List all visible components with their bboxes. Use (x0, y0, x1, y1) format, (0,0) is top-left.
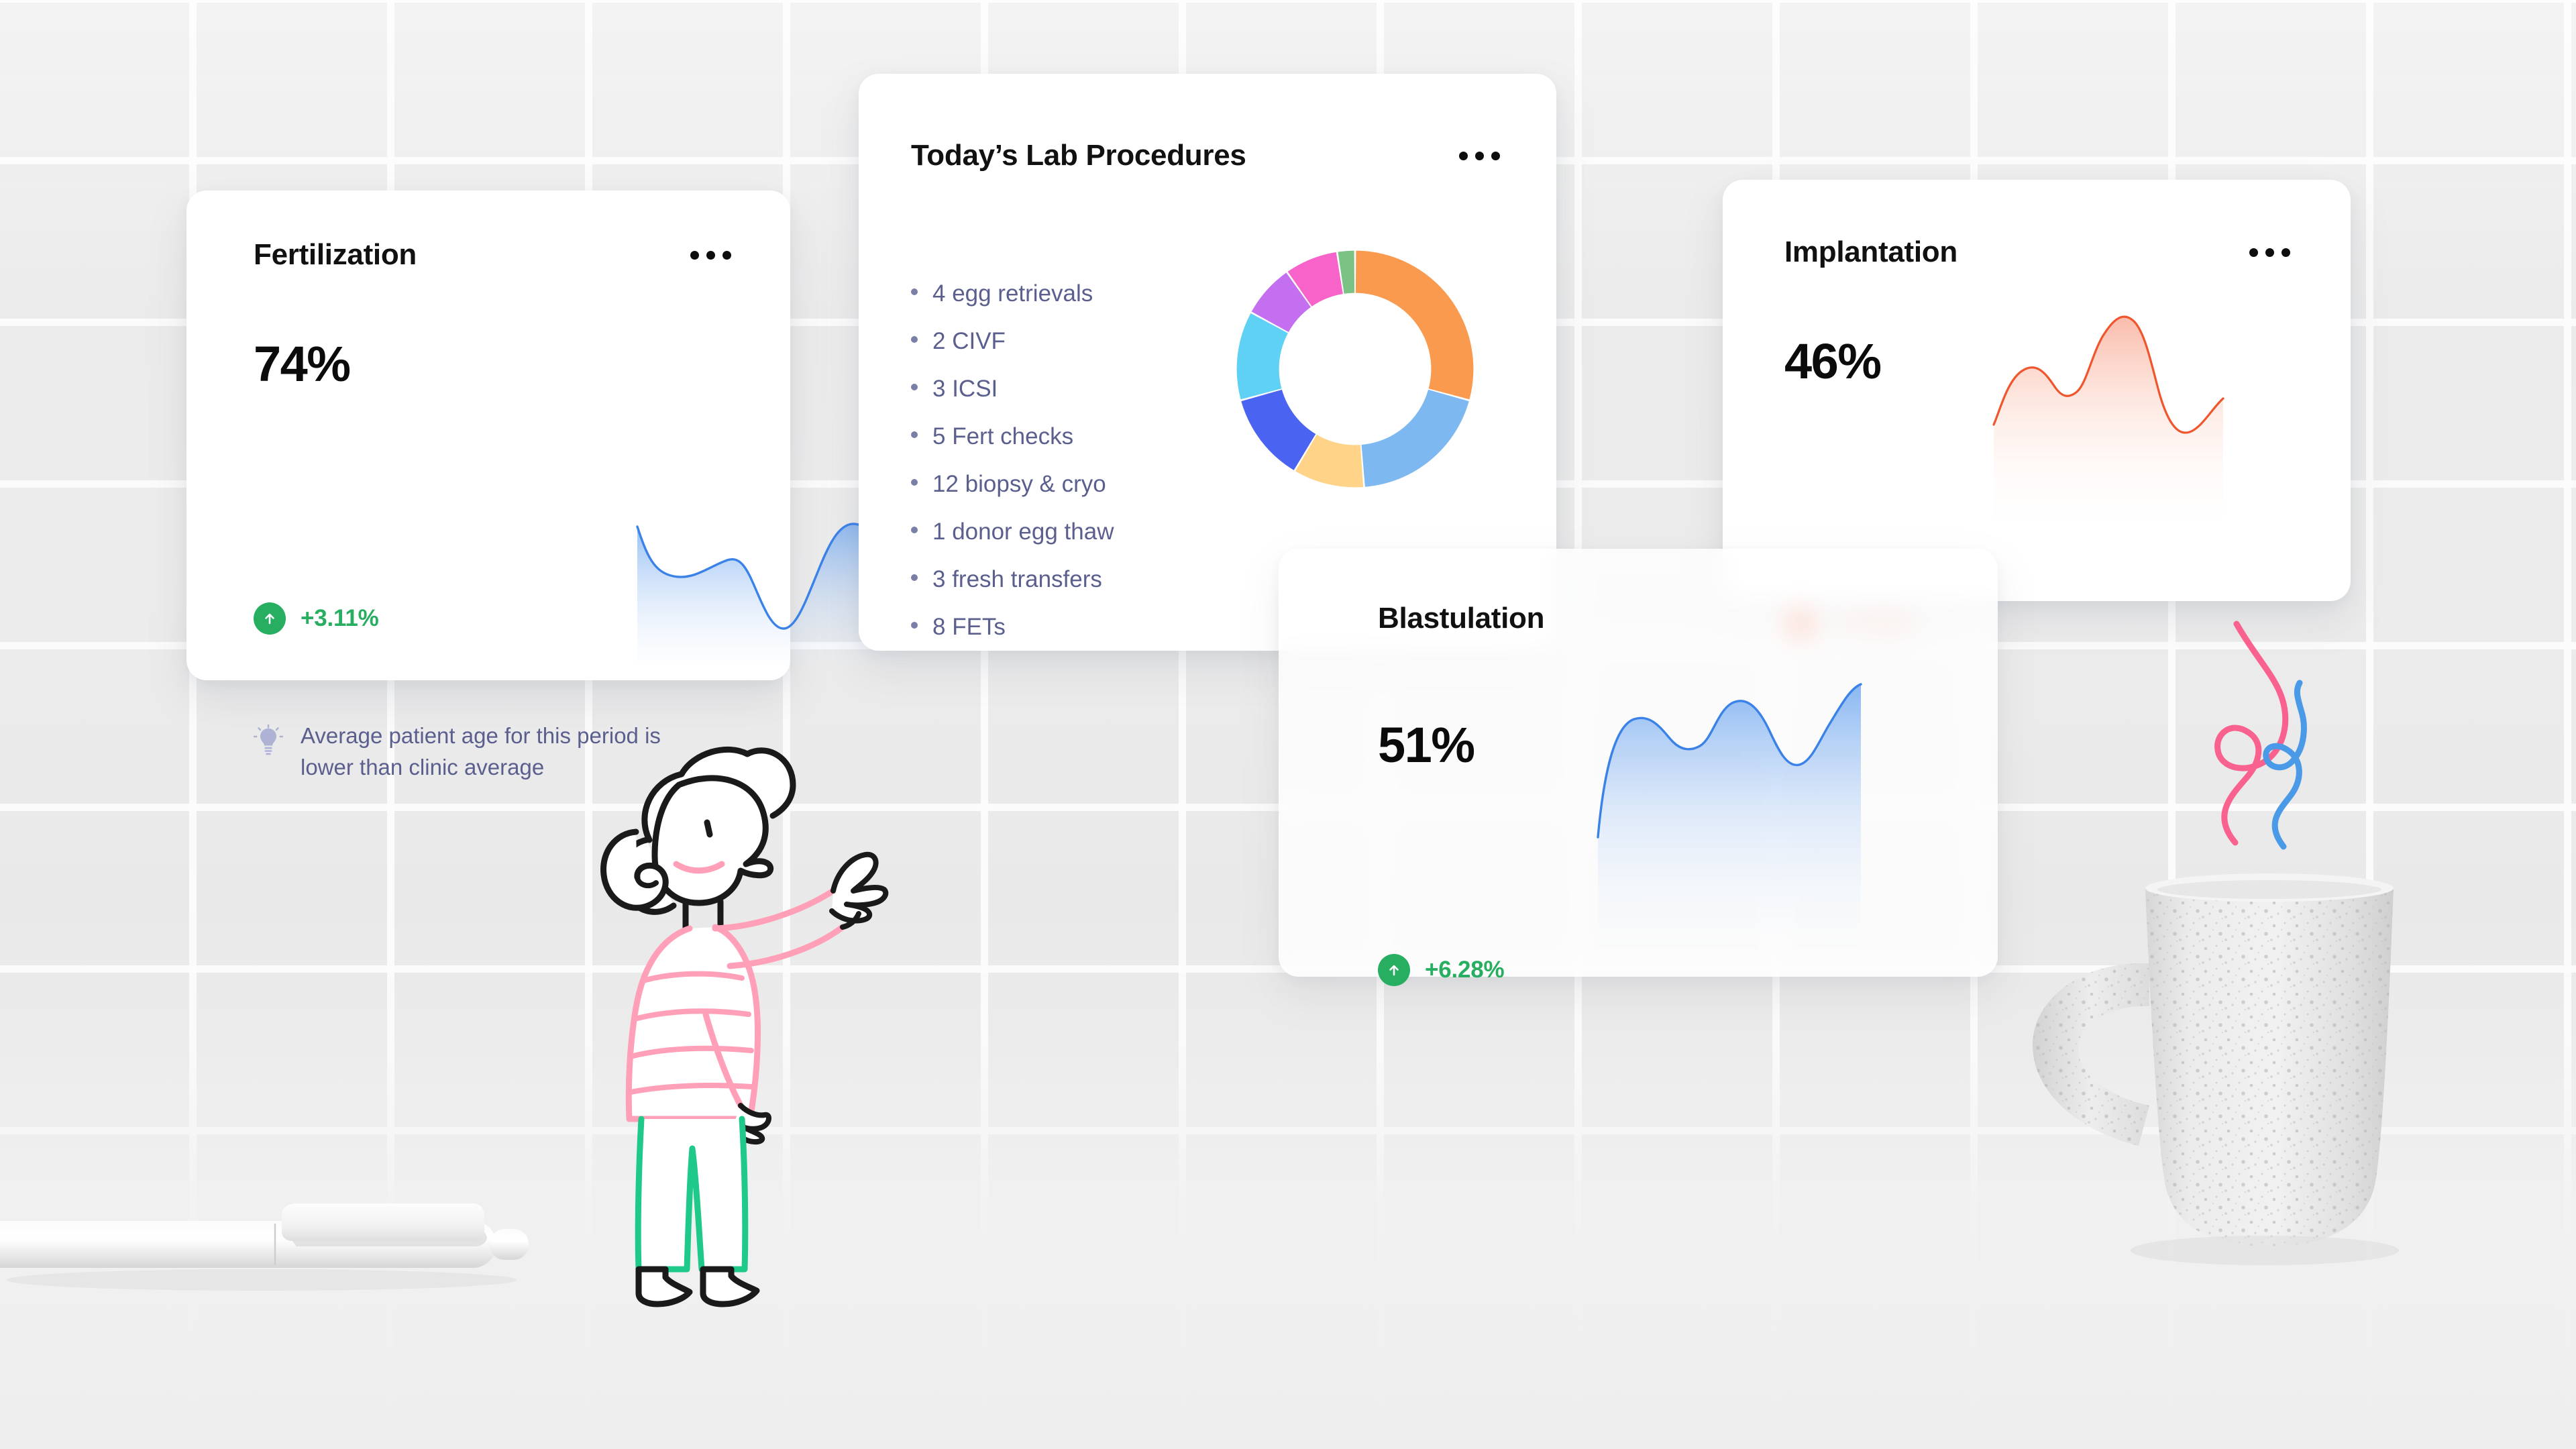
list-item: 1 donor egg thaw (911, 520, 1114, 543)
card-header: Implantation (1784, 237, 2294, 267)
bullet-icon (911, 479, 918, 486)
list-item: 12 biopsy & cryo (911, 472, 1114, 496)
card-title: Fertilization (254, 240, 417, 270)
bullet-icon (911, 288, 918, 295)
list-item: 8 FETs (911, 615, 1114, 639)
donut-chart (1214, 228, 1496, 510)
list-item-label: 2 CIVF (932, 329, 1006, 353)
arrow-up-icon (1378, 954, 1410, 986)
lightbulb-icon (254, 724, 283, 758)
lab-procedures-list: 4 egg retrievals 2 CIVF 3 ICSI 5 Fert ch… (911, 282, 1114, 663)
metric-value: 74% (254, 339, 350, 389)
bullet-icon (911, 384, 918, 390)
card-implantation[interactable]: Implantation 46% - 9.76% (1723, 180, 2351, 601)
list-item: 4 egg retrievals (911, 282, 1114, 305)
delta-indicator: +6.28% (1378, 954, 1504, 986)
card-title: Today’s Lab Procedures (911, 141, 1246, 170)
arrow-up-icon (254, 602, 286, 635)
person-pointing-illustration (572, 733, 920, 1370)
card-header: Today’s Lab Procedures (911, 141, 1504, 170)
delta-value: +6.28% (1425, 957, 1504, 983)
donut-segment (1362, 390, 1469, 487)
list-item-label: 1 donor egg thaw (932, 520, 1114, 543)
list-item: 3 fresh transfers (911, 568, 1114, 591)
delta-indicator: +3.11% (254, 602, 379, 635)
pen-illustration (0, 1179, 550, 1313)
coffee-mug-illustration (1996, 601, 2426, 1292)
list-item: 2 CIVF (911, 329, 1114, 353)
delta-value: +3.11% (301, 605, 379, 632)
list-item-label: 12 biopsy & cryo (932, 472, 1106, 496)
sparkline-implantation (1991, 267, 2279, 535)
kebab-menu-icon[interactable] (1455, 145, 1504, 167)
bullet-icon (911, 336, 918, 343)
list-item-label: 3 fresh transfers (932, 568, 1102, 591)
bullet-icon (911, 527, 918, 533)
kebab-menu-icon[interactable] (2245, 241, 2294, 264)
metric-value: 46% (1784, 337, 1881, 386)
list-item-label: 5 Fert checks (932, 425, 1073, 448)
list-item-label: 3 ICSI (932, 377, 998, 400)
card-blastulation[interactable]: Blastulation 51% +6.28% (1279, 549, 1998, 977)
kebab-menu-icon[interactable] (686, 244, 735, 266)
card-title: Implantation (1784, 237, 1957, 267)
donut-segment (1356, 251, 1474, 400)
list-item: 3 ICSI (911, 377, 1114, 400)
card-title: Blastulation (1378, 604, 1544, 633)
card-header: Fertilization (254, 240, 735, 270)
bullet-icon (911, 622, 918, 629)
list-item: 5 Fert checks (911, 425, 1114, 448)
bullet-icon (911, 574, 918, 581)
metric-value: 51% (1378, 720, 1474, 770)
card-fertilization[interactable]: Fertilization 74% +3.11% (186, 191, 790, 680)
sparkline-blastulation (1594, 676, 1929, 951)
list-item-label: 4 egg retrievals (932, 282, 1093, 305)
card-header: Blastulation (1378, 604, 1937, 633)
list-item-label: 8 FETs (932, 615, 1006, 639)
bullet-icon (911, 431, 918, 438)
